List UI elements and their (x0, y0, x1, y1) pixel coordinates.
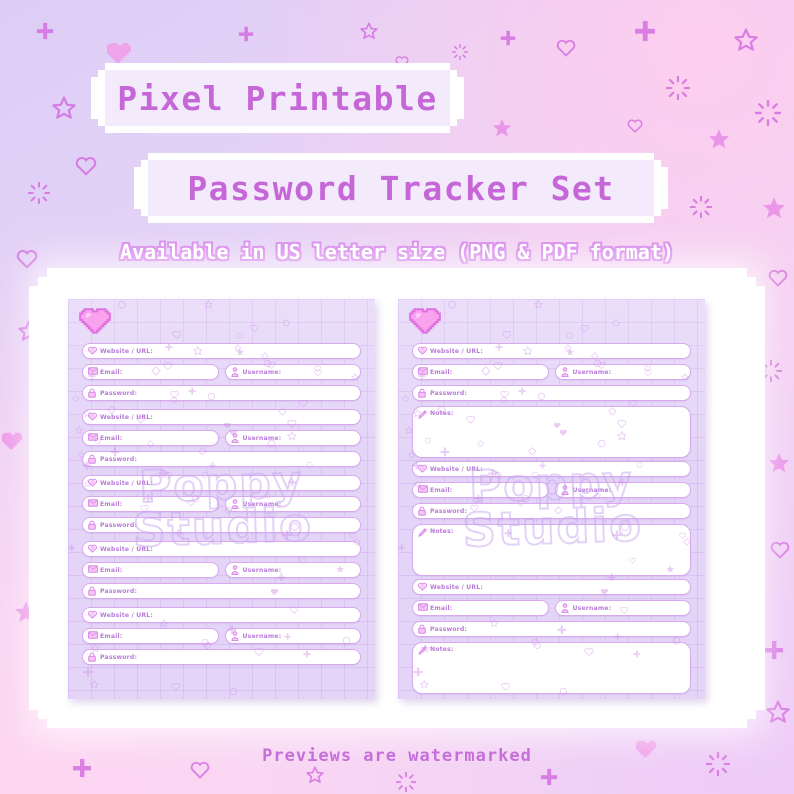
footer-note: Previews are watermarked (0, 746, 794, 766)
pencil-icon (418, 646, 427, 656)
pencil-icon (418, 410, 427, 420)
sparkle-decoration-icon (28, 182, 50, 204)
title-banner-primary: Pixel Printable (105, 70, 450, 126)
heart-confetti-icon (250, 324, 259, 333)
notes-label: Notes: (430, 646, 454, 653)
heart-confetti-icon (580, 324, 589, 333)
notes-field[interactable]: Notes: (412, 524, 691, 576)
plus-confetti-icon (398, 544, 405, 551)
diamond-confetti-icon (72, 395, 79, 402)
website-label: Website / URL: (100, 546, 153, 553)
website-field[interactable]: Website / URL: (82, 409, 361, 425)
notes-label: Notes: (430, 528, 454, 535)
password-field[interactable]: Password: (82, 385, 361, 401)
website-field[interactable]: Website / URL: (412, 343, 691, 359)
email-username-row: Email: Username: (82, 496, 361, 517)
lock-icon (88, 520, 97, 530)
subtitle-text: Available in US letter size (PNG & PDF f… (0, 240, 794, 264)
circle-confetti-icon (229, 687, 238, 696)
sparkle-decoration-icon (452, 44, 468, 60)
diamond-confetti-icon (402, 395, 409, 402)
heart-decoration-icon (770, 540, 790, 560)
plus-decoration-icon (500, 30, 516, 46)
username-field[interactable]: Username: (225, 496, 362, 512)
plus-confetti-icon (68, 544, 75, 551)
printable-preview-frame: Poppy Studio Website / URL: Email: Usern… (47, 277, 747, 719)
heart-decoration-icon (2, 430, 24, 452)
heart-icon (88, 346, 97, 356)
email-label: Email: (430, 369, 452, 376)
heart-icon (418, 582, 427, 592)
password-field[interactable]: Password: (82, 451, 361, 467)
email-label: Email: (430, 605, 452, 612)
email-username-row: Email: Username: (412, 364, 691, 385)
username-label: Username: (243, 501, 282, 508)
password-entry: Website / URL: Email: Username: Password… (82, 607, 361, 670)
plus-decoration-icon (634, 20, 656, 42)
heart-icon (88, 610, 97, 620)
envelope-icon (88, 367, 97, 377)
plus-decoration-icon (764, 640, 784, 660)
username-label: Username: (243, 633, 282, 640)
heart-confetti-icon (502, 330, 512, 340)
heart-icon (418, 346, 427, 356)
website-field[interactable]: Website / URL: (412, 579, 691, 595)
circle-confetti-icon (612, 319, 620, 327)
website-label: Website / URL: (430, 348, 483, 355)
envelope-icon (418, 485, 427, 495)
star-decoration-icon (768, 452, 790, 474)
person-icon (231, 565, 240, 575)
pixel-heart-icon (78, 307, 112, 337)
email-field[interactable]: Email: (412, 364, 549, 380)
email-field[interactable]: Email: (82, 364, 219, 380)
heart-decoration-icon (395, 55, 409, 69)
email-username-row: Email: Username: (82, 364, 361, 385)
star-decoration-icon (708, 128, 730, 150)
website-label: Website / URL: (100, 414, 153, 421)
password-entry: Website / URL: Email: Username: Password… (412, 579, 691, 699)
website-label: Website / URL: (100, 348, 153, 355)
sparkle-decoration-icon (755, 100, 781, 126)
email-field[interactable]: Email: (82, 496, 219, 512)
email-username-row: Email: Username: (412, 482, 691, 503)
password-label: Password: (100, 588, 137, 595)
envelope-icon (418, 367, 427, 377)
notes-field[interactable]: Notes: (412, 642, 691, 694)
email-username-row: Email: Username: (82, 628, 361, 649)
circle-confetti-icon (447, 300, 457, 310)
sparkle-decoration-icon (666, 76, 690, 100)
password-entry: Website / URL: Email: Username: Password… (82, 475, 361, 538)
username-label: Username: (573, 487, 612, 494)
circle-confetti-icon (117, 300, 127, 310)
email-field[interactable]: Email: (412, 600, 549, 616)
title-banner-secondary: Password Tracker Set (148, 160, 654, 216)
person-icon (231, 499, 240, 509)
person-icon (231, 433, 240, 443)
username-field[interactable]: Username: (555, 482, 692, 498)
plus-decoration-icon (238, 26, 254, 42)
notes-field[interactable]: Notes: (412, 406, 691, 458)
email-field[interactable]: Email: (412, 482, 549, 498)
heart-icon (88, 412, 97, 422)
email-username-row: Email: Username: (82, 430, 361, 451)
username-field[interactable]: Username: (225, 364, 362, 380)
username-field[interactable]: Username: (555, 364, 692, 380)
password-entry: Website / URL: Email: Username: Password… (82, 343, 361, 406)
lock-icon (418, 624, 427, 634)
password-entry: Website / URL: Email: Username: Password… (82, 541, 361, 604)
circle-confetti-icon (566, 332, 573, 339)
email-label: Email: (100, 633, 122, 640)
heart-icon (88, 544, 97, 554)
username-field[interactable]: Username: (225, 628, 362, 644)
lock-icon (88, 388, 97, 398)
website-label: Website / URL: (100, 480, 153, 487)
username-label: Username: (573, 369, 612, 376)
page-title-line1: Pixel Printable (117, 79, 438, 118)
star-decoration-icon (52, 96, 76, 120)
password-entry: Website / URL: Email: Username: Password… (82, 409, 361, 472)
email-label: Email: (100, 435, 122, 442)
person-icon (231, 631, 240, 641)
star-confetti-icon (90, 680, 99, 689)
printable-page-right[interactable]: Poppy Studio Website / URL: Email: Usern… (398, 299, 705, 699)
website-label: Website / URL: (430, 584, 483, 591)
email-field[interactable]: Email: (82, 430, 219, 446)
username-label: Username: (243, 567, 282, 574)
password-field[interactable]: Password: (82, 517, 361, 533)
star-decoration-icon (762, 196, 786, 220)
star-decoration-icon (734, 28, 758, 52)
star-decoration-icon (766, 700, 790, 724)
password-field[interactable]: Password: (412, 621, 691, 637)
email-field[interactable]: Email: (82, 628, 219, 644)
star-decoration-icon (360, 22, 378, 40)
website-label: Website / URL: (100, 612, 153, 619)
password-field[interactable]: Password: (82, 583, 361, 599)
circle-confetti-icon (282, 319, 290, 327)
heart-decoration-icon (556, 38, 576, 58)
username-field[interactable]: Username: (225, 430, 362, 446)
heart-decoration-icon (627, 118, 643, 134)
star-confetti-icon (204, 300, 213, 309)
lock-icon (418, 506, 427, 516)
password-entry: Website / URL: Email: Username: Password… (412, 461, 691, 581)
password-field[interactable]: Password: (82, 649, 361, 665)
heart-decoration-icon (107, 40, 133, 66)
password-label: Password: (100, 654, 137, 661)
envelope-icon (88, 433, 97, 443)
heart-icon (88, 478, 97, 488)
star-decoration-icon (492, 118, 512, 138)
pencil-icon (418, 528, 427, 538)
password-label: Password: (430, 390, 467, 397)
printable-page-left[interactable]: Poppy Studio Website / URL: Email: Usern… (68, 299, 375, 699)
person-icon (231, 367, 240, 377)
website-field[interactable]: Website / URL: (82, 607, 361, 623)
person-icon (561, 367, 570, 377)
heart-confetti-icon (172, 330, 182, 340)
website-field[interactable]: Website / URL: (82, 541, 361, 557)
website-label: Website / URL: (430, 466, 483, 473)
password-entry: Website / URL: Email: Username: Password… (412, 343, 691, 463)
page-title-line2: Password Tracker Set (187, 169, 614, 208)
password-field[interactable]: Password: (412, 503, 691, 519)
email-label: Email: (100, 567, 122, 574)
envelope-icon (88, 631, 97, 641)
email-username-row: Email: Username: (82, 562, 361, 583)
password-field[interactable]: Password: (412, 385, 691, 401)
email-label: Email: (100, 501, 122, 508)
pixel-heart-icon (408, 307, 442, 337)
email-label: Email: (100, 369, 122, 376)
envelope-icon (418, 603, 427, 613)
username-label: Username: (243, 369, 282, 376)
heart-icon (418, 464, 427, 474)
password-label: Password: (100, 456, 137, 463)
heart-confetti-icon (171, 682, 180, 691)
username-label: Username: (573, 605, 612, 612)
plus-decoration-icon (540, 768, 558, 786)
heart-decoration-icon (75, 155, 97, 177)
plus-decoration-icon (36, 22, 54, 40)
website-field[interactable]: Website / URL: (412, 461, 691, 477)
website-field[interactable]: Website / URL: (82, 343, 361, 359)
email-username-row: Email: Username: (412, 600, 691, 621)
sparkle-decoration-icon (396, 772, 416, 792)
lock-icon (88, 652, 97, 662)
circle-confetti-icon (236, 332, 243, 339)
lock-icon (88, 586, 97, 596)
person-icon (561, 485, 570, 495)
email-field[interactable]: Email: (82, 562, 219, 578)
lock-icon (418, 388, 427, 398)
lock-icon (88, 454, 97, 464)
envelope-icon (88, 565, 97, 575)
website-field[interactable]: Website / URL: (82, 475, 361, 491)
envelope-icon (88, 499, 97, 509)
username-label: Username: (243, 435, 282, 442)
star-confetti-icon (534, 300, 543, 309)
sparkle-decoration-icon (690, 196, 712, 218)
password-label: Password: (100, 522, 137, 529)
password-label: Password: (100, 390, 137, 397)
heart-decoration-icon (768, 268, 788, 288)
username-field[interactable]: Username: (555, 600, 692, 616)
person-icon (561, 603, 570, 613)
password-label: Password: (430, 626, 467, 633)
username-field[interactable]: Username: (225, 562, 362, 578)
notes-label: Notes: (430, 410, 454, 417)
password-label: Password: (430, 508, 467, 515)
star-decoration-icon (306, 766, 324, 784)
email-label: Email: (430, 487, 452, 494)
